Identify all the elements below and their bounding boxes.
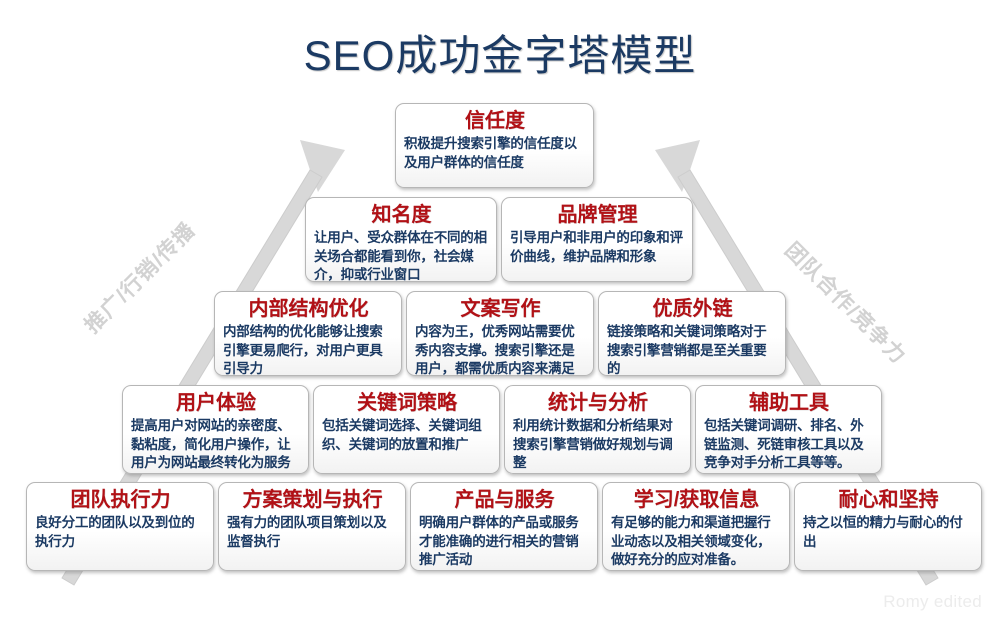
box-body: 包括关键词选择、关键词组织、关键词的放置和推广 xyxy=(322,417,492,454)
box-title: 品牌管理 xyxy=(510,203,685,228)
box-title: 辅助工具 xyxy=(704,391,874,416)
box-body: 提高用户对网站的亲密度、黏粘度，简化用户操作，让用户为网站最终转化为服务 xyxy=(131,417,301,473)
box-title: 内部结构优化 xyxy=(223,297,394,322)
box-title: 文案写作 xyxy=(415,297,586,322)
box-body: 链接策略和关键词策略对于搜索引擎营销都是至关重要的 xyxy=(607,323,778,376)
box-body: 有足够的能力和渠道把握行业动态以及相关领域变化，做好充分的应对准备。 xyxy=(611,514,782,570)
pyramid-level-5: 团队执行力 良好分工的团队以及到位的执行力 方案策划与执行 强有力的团队项目策划… xyxy=(26,482,982,571)
pyramid-level-4: 用户体验 提高用户对网站的亲密度、黏粘度，简化用户操作，让用户为网站最终转化为服… xyxy=(122,385,882,474)
pyramid-box-planning-execution[interactable]: 方案策划与执行 强有力的团队项目策划以及监督执行 xyxy=(218,482,406,571)
pyramid-box-keyword-strategy[interactable]: 关键词策略 包括关键词选择、关键词组织、关键词的放置和推广 xyxy=(313,385,500,474)
pyramid-box-auxiliary-tools[interactable]: 辅助工具 包括关键词调研、排名、外链监测、死链审核工具以及竞争对手分析工具等等。 xyxy=(695,385,882,474)
pyramid-box-internal-structure[interactable]: 内部结构优化 内部结构的优化能够让搜索引擎更易爬行，对用户更具引导力 xyxy=(214,291,402,376)
box-body: 积极提升搜索引擎的信任度以及用户群体的信任度 xyxy=(404,135,586,172)
pyramid-level-3: 内部结构优化 内部结构的优化能够让搜索引擎更易爬行，对用户更具引导力 文案写作 … xyxy=(214,291,786,376)
page-title: SEO成功金字塔模型 xyxy=(0,22,1000,83)
box-body: 强有力的团队项目策划以及监督执行 xyxy=(227,514,398,551)
box-title: 知名度 xyxy=(314,203,489,228)
diagram-canvas: SEO成功金字塔模型 推广/行销/传播 团队合作/竞争力 信任度 积极提升搜索引… xyxy=(0,0,1000,620)
pyramid-level-1: 信任度 积极提升搜索引擎的信任度以及用户群体的信任度 xyxy=(395,103,594,188)
watermark: Romy edited xyxy=(883,592,982,612)
box-title: 优质外链 xyxy=(607,297,778,322)
box-body: 让用户、受众群体在不同的相关场合都能看到你，社会媒介，抑或行业窗口 xyxy=(314,229,489,282)
pyramid-box-products-services[interactable]: 产品与服务 明确用户群体的产品或服务才能准确的进行相关的营销推广活动 xyxy=(410,482,598,571)
box-body: 持之以恒的精力与耐心的付出 xyxy=(803,514,974,551)
box-title: 产品与服务 xyxy=(419,488,590,513)
box-body: 明确用户群体的产品或服务才能准确的进行相关的营销推广活动 xyxy=(419,514,590,570)
pyramid-box-brand-management[interactable]: 品牌管理 引导用户和非用户的印象和评价曲线，维护品牌和形象 xyxy=(501,197,693,282)
box-title: 耐心和坚持 xyxy=(803,488,974,513)
box-body: 包括关键词调研、排名、外链监测、死链审核工具以及竞争对手分析工具等等。 xyxy=(704,417,874,473)
pyramid-box-statistics-analysis[interactable]: 统计与分析 利用统计数据和分析结果对搜索引擎营销做好规划与调整 xyxy=(504,385,691,474)
box-body: 引导用户和非用户的印象和评价曲线，维护品牌和形象 xyxy=(510,229,685,266)
box-title: 学习/获取信息 xyxy=(611,488,782,513)
box-title: 用户体验 xyxy=(131,391,301,416)
box-body: 良好分工的团队以及到位的执行力 xyxy=(35,514,206,551)
box-title: 统计与分析 xyxy=(513,391,683,416)
box-body: 内部结构的优化能够让搜索引擎更易爬行，对用户更具引导力 xyxy=(223,323,394,376)
pyramid-box-awareness[interactable]: 知名度 让用户、受众群体在不同的相关场合都能看到你，社会媒介，抑或行业窗口 xyxy=(305,197,497,282)
pyramid-box-user-experience[interactable]: 用户体验 提高用户对网站的亲密度、黏粘度，简化用户操作，让用户为网站最终转化为服… xyxy=(122,385,309,474)
box-body: 内容为王，优秀网站需要优秀内容支撑。搜索引擎还是用户，都需优质内容来满足 xyxy=(415,323,586,376)
pyramid-box-team-execution[interactable]: 团队执行力 良好分工的团队以及到位的执行力 xyxy=(26,482,214,571)
pyramid-box-copywriting[interactable]: 文案写作 内容为王，优秀网站需要优秀内容支撑。搜索引擎还是用户，都需优质内容来满… xyxy=(406,291,594,376)
box-title: 方案策划与执行 xyxy=(227,488,398,513)
box-body: 利用统计数据和分析结果对搜索引擎营销做好规划与调整 xyxy=(513,417,683,473)
pyramid-level-2: 知名度 让用户、受众群体在不同的相关场合都能看到你，社会媒介，抑或行业窗口 品牌… xyxy=(305,197,693,282)
box-title: 信任度 xyxy=(404,109,586,134)
pyramid-box-patience-persistence[interactable]: 耐心和坚持 持之以恒的精力与耐心的付出 xyxy=(794,482,982,571)
box-title: 关键词策略 xyxy=(322,391,492,416)
pyramid-box-trust[interactable]: 信任度 积极提升搜索引擎的信任度以及用户群体的信任度 xyxy=(395,103,594,188)
pyramid-box-learning-information[interactable]: 学习/获取信息 有足够的能力和渠道把握行业动态以及相关领域变化，做好充分的应对准… xyxy=(602,482,790,571)
pyramid-box-quality-backlinks[interactable]: 优质外链 链接策略和关键词策略对于搜索引擎营销都是至关重要的 xyxy=(598,291,786,376)
right-arrow-label: 团队合作/竞争力 xyxy=(779,235,914,370)
left-arrow-label: 推广/行销/传播 xyxy=(77,215,201,339)
box-title: 团队执行力 xyxy=(35,488,206,513)
